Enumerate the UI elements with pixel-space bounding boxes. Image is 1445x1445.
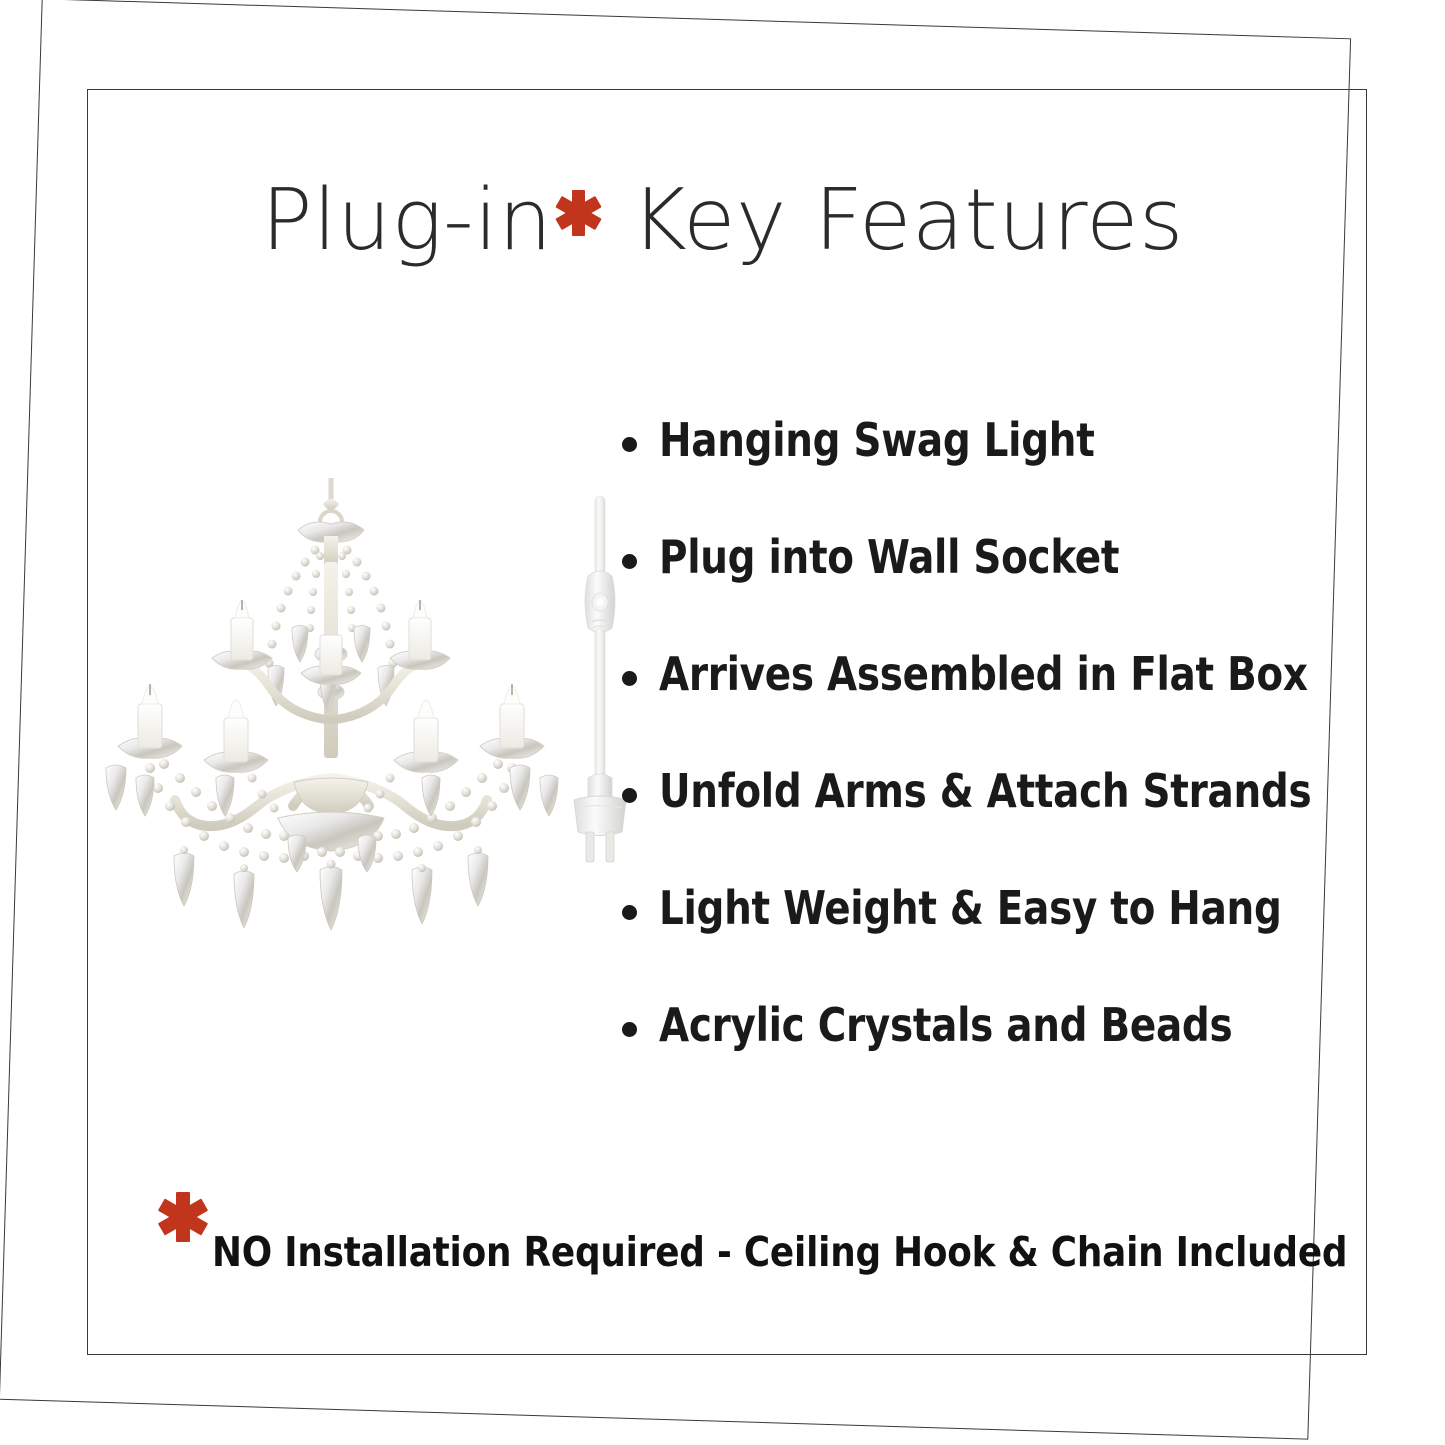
bullet-point-icon: [622, 788, 637, 803]
bullet-point-icon: [622, 671, 637, 686]
feature-label: Plug into Wall Socket: [659, 533, 1119, 581]
page-title-tail: Key Features: [604, 171, 1184, 270]
asterisk-icon-footer: [158, 1192, 208, 1242]
bullet-point-icon: [622, 554, 637, 569]
feature-label: Unfold Arms & Attach Strands: [659, 767, 1311, 815]
infographic-canvas: Plug-in Key Features: [0, 0, 1445, 1445]
page-title-lead: Plug-in: [261, 171, 552, 270]
asterisk-icon-title: [556, 190, 602, 236]
feature-item: Hanging Swag Light: [622, 416, 1382, 533]
chandelier-image: [92, 478, 570, 960]
feature-label: Hanging Swag Light: [659, 416, 1095, 464]
footnote-text: NO Installation Required - Ceiling Hook …: [212, 1228, 1347, 1276]
bullet-point-icon: [622, 1022, 637, 1037]
page-title: Plug-in Key Features: [0, 178, 1445, 263]
feature-list: Hanging Swag Light Plug into Wall Socket…: [622, 416, 1382, 1118]
feature-label: Arrives Assembled in Flat Box: [659, 650, 1308, 698]
feature-item: Acrylic Crystals and Beads: [622, 1001, 1382, 1118]
feature-label: Acrylic Crystals and Beads: [659, 1001, 1232, 1049]
feature-item: Unfold Arms & Attach Strands: [622, 767, 1382, 884]
feature-item: Light Weight & Easy to Hang: [622, 884, 1382, 1001]
feature-label: Light Weight & Easy to Hang: [659, 884, 1282, 932]
bullet-point-icon: [622, 437, 637, 452]
feature-item: Plug into Wall Socket: [622, 533, 1382, 650]
bullet-point-icon: [622, 905, 637, 920]
feature-item: Arrives Assembled in Flat Box: [622, 650, 1382, 767]
